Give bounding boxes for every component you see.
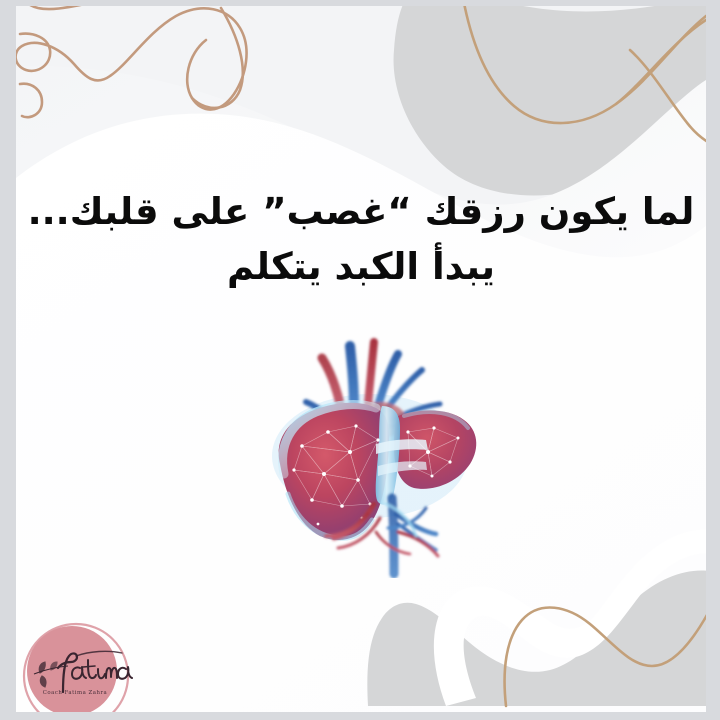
top-gold-wave-line: [463, 6, 706, 123]
headline-line-1: لما يكون رزقك “غصب” على قلبك...: [16, 184, 706, 239]
top-left-squiggle-line-3: [20, 84, 42, 118]
bottom-right-gray-blob: [367, 570, 706, 706]
bottom-gold-wave-line: [505, 598, 706, 706]
poster-card: لما يكون رزقك “غصب” على قلبك... يبدأ الك…: [16, 6, 706, 712]
headline: لما يكون رزقك “غصب” على قلبك... يبدأ الك…: [16, 184, 706, 294]
top-gold-wave-line-right: [630, 50, 706, 146]
top-gold-wave-line-tail: [616, 20, 706, 104]
brand-logo[interactable]: Coach Fatima Zahra Fatima Coach Fatima Z…: [18, 618, 134, 712]
top-left-squiggle-line-2: [16, 8, 247, 109]
top-left-squiggle-line: [21, 6, 108, 9]
logo-subtitle: Coach Fatima Zahra: [43, 690, 108, 696]
liver-illustration: الكبد: [258, 328, 488, 578]
top-right-gray-blob: [394, 6, 706, 196]
poster-canvas: لما يكون رزقك “غصب” على قلبك... يبدأ الك…: [0, 0, 720, 720]
headline-line-2: يبدأ الكبد يتكلم: [16, 239, 706, 294]
top-left-squiggle-line-4: [192, 8, 243, 108]
